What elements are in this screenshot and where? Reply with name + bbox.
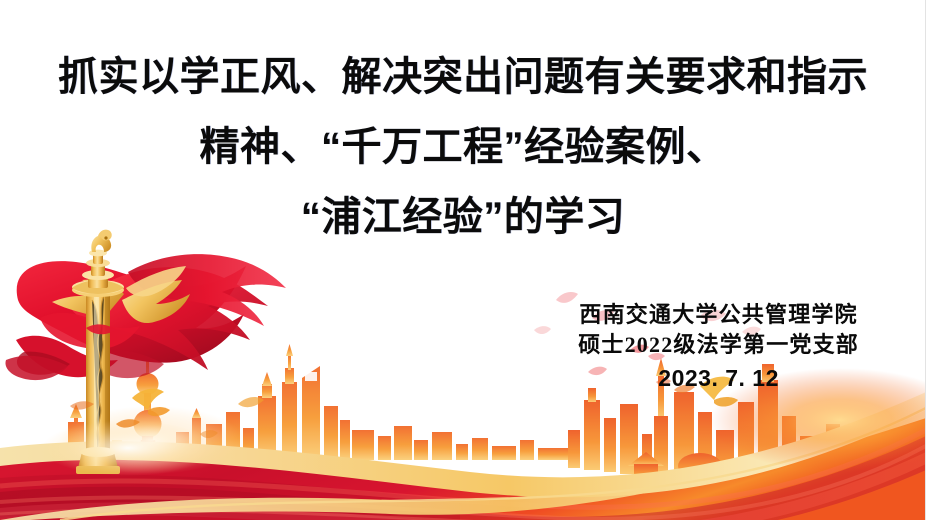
- title-line-2: 精神、“千万工程”经验案例、: [0, 112, 926, 182]
- slide-title: 抓实以学正风、解决突出问题有关要求和指示 精神、“千万工程”经验案例、 “浦江经…: [0, 42, 926, 252]
- subtitle-branch: 硕士2022级法学第一党支部: [578, 330, 859, 360]
- title-line-1: 抓实以学正风、解决突出问题有关要求和指示: [0, 42, 926, 112]
- subtitle-organization: 西南交通大学公共管理学院: [578, 300, 859, 330]
- presentation-slide: 抓实以学正风、解决突出问题有关要求和指示 精神、“千万工程”经验案例、 “浦江经…: [0, 0, 926, 520]
- subtitle-date: 2023. 7. 12: [578, 362, 859, 394]
- slide-subtitle: 西南交通大学公共管理学院 硕士2022级法学第一党支部 2023. 7. 12: [578, 300, 859, 394]
- title-line-3: “浦江经验”的学习: [0, 182, 926, 252]
